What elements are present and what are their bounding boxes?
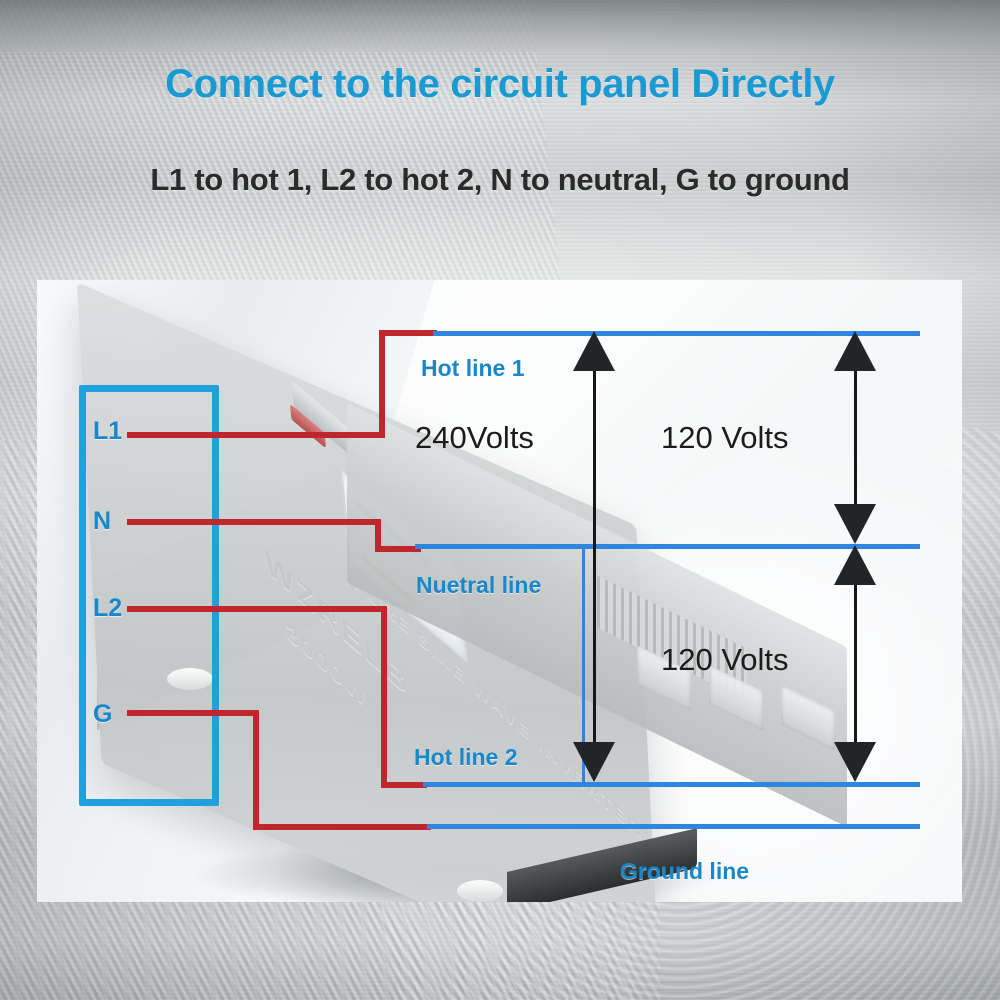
wire-l2-to-hotline2 — [381, 782, 427, 788]
terminal-label-n: N — [93, 507, 111, 536]
terminal-label-g: G — [93, 700, 112, 729]
screenshot-root: Connect to the circuit panel Directly L1… — [0, 0, 1000, 1000]
arrow-up-120v-lower — [834, 545, 876, 585]
arrow-down-120v-lower — [834, 742, 876, 782]
arrow-up-120v-upper — [834, 331, 876, 371]
label-ground-line: Ground line — [620, 858, 749, 885]
label-hot-line-1: Hot line 1 — [421, 355, 525, 382]
wire-l1-to-hotline1 — [379, 330, 437, 336]
wire-n-horizontal — [127, 519, 381, 525]
dim-line-240v — [593, 340, 596, 774]
terminal-label-l2: L2 — [93, 594, 122, 623]
label-hot-line-2: Hot line 2 — [414, 744, 518, 771]
wire-g-dropper — [253, 710, 259, 830]
arrow-down-240v — [573, 742, 615, 782]
arrow-down-120v-upper — [834, 504, 876, 544]
device-mount-foot-2 — [457, 880, 503, 902]
wire-l2-dropper — [381, 606, 387, 788]
wire-l1-riser — [379, 330, 385, 438]
page-title: Connect to the circuit panel Directly — [0, 62, 1000, 107]
bus-ground-line — [427, 824, 920, 829]
voltage-label-120v-upper: 120 Volts — [661, 420, 789, 456]
voltage-label-240v: 240Volts — [415, 420, 534, 456]
wire-l1-horizontal — [127, 432, 385, 438]
bus-hot-line-2 — [423, 782, 920, 787]
diagram-panel: WZRELB 3000W PURE SINE WAVE INVERTER L1 … — [37, 280, 962, 902]
label-neutral-line: Nuetral line — [416, 572, 541, 599]
voltage-label-120v-lower: 120 Volts — [661, 642, 789, 678]
wire-g-horizontal — [127, 710, 259, 716]
arrow-up-240v — [573, 331, 615, 371]
wire-l2-horizontal — [127, 606, 387, 612]
wire-g-to-ground — [253, 824, 431, 830]
terminal-label-l1: L1 — [93, 417, 122, 446]
page-subtitle: L1 to hot 1, L2 to hot 2, N to neutral, … — [0, 162, 1000, 198]
